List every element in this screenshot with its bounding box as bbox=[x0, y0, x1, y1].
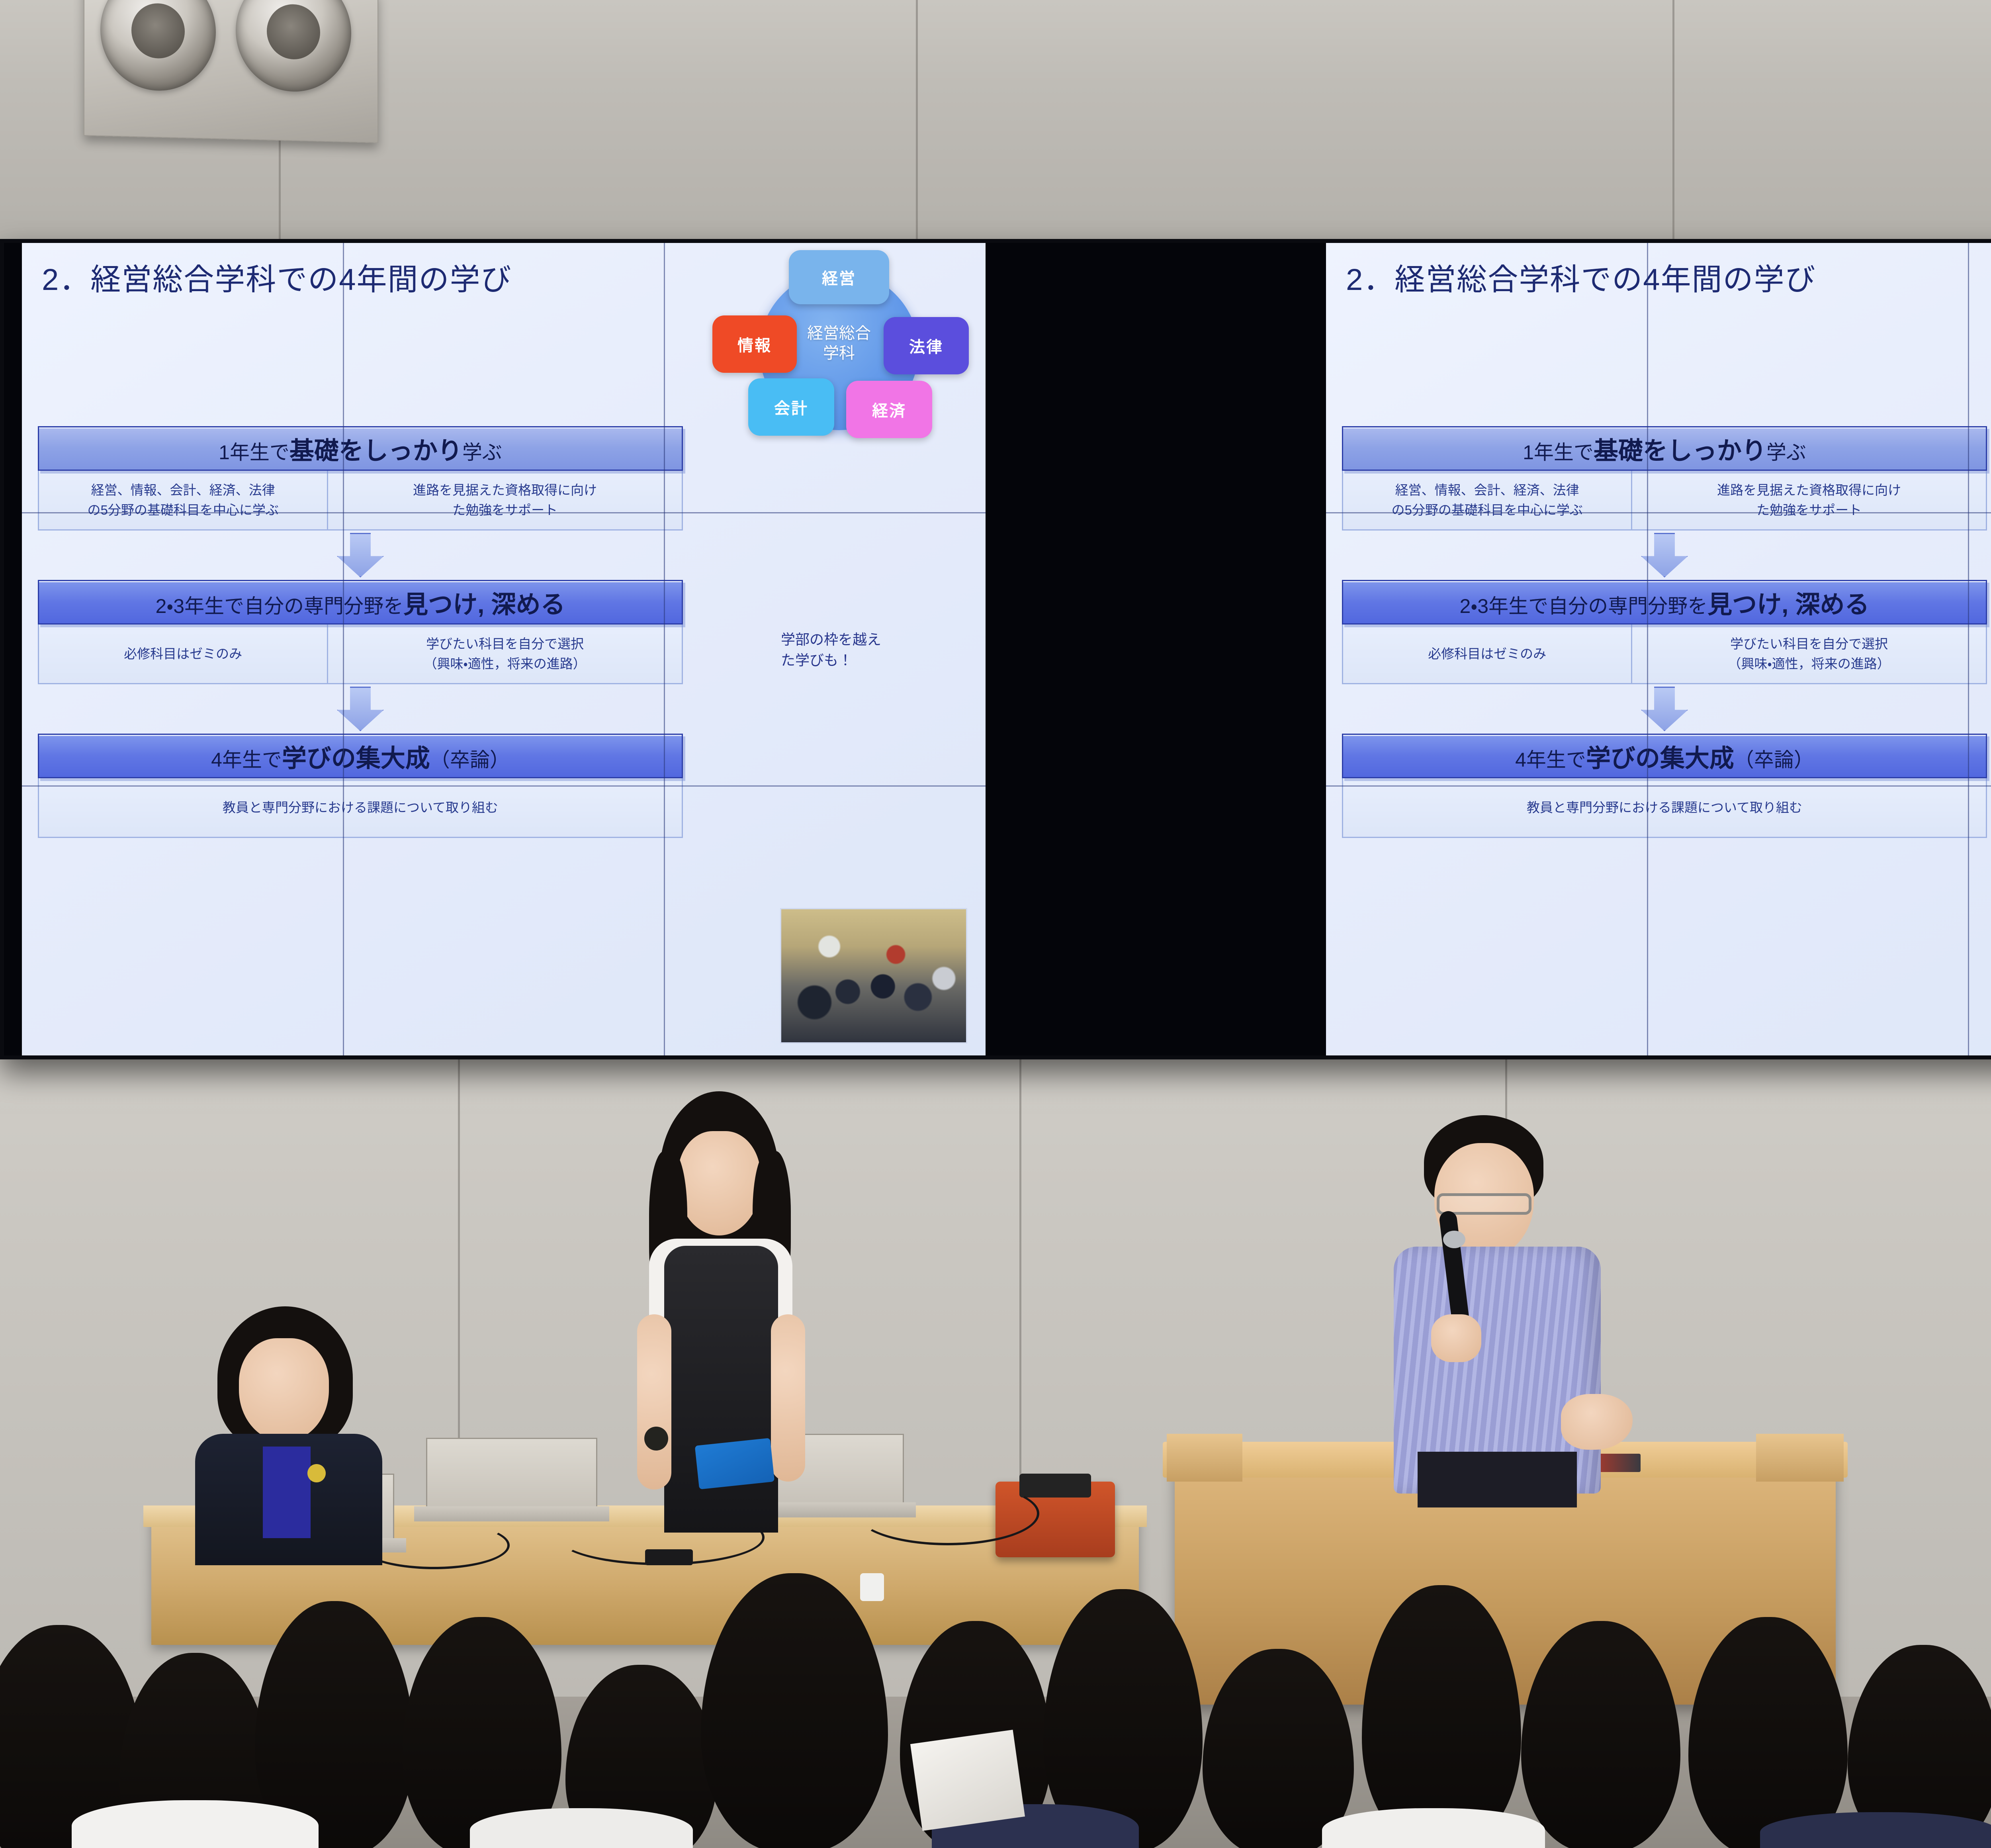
speaker-left-hand bbox=[1431, 1314, 1481, 1362]
presenter-left-arm bbox=[637, 1314, 671, 1490]
speaker-right-hand bbox=[1561, 1394, 1633, 1450]
standing-presenter bbox=[577, 1091, 856, 1537]
speaker-trousers bbox=[1418, 1452, 1577, 1507]
podium-speaker bbox=[1346, 1115, 1657, 1474]
presenter-right-arm bbox=[771, 1314, 805, 1482]
water-bottle bbox=[860, 1573, 884, 1601]
seated-blouse bbox=[263, 1447, 311, 1538]
audience-shoulders bbox=[1322, 1808, 1545, 1848]
air-vent-icon bbox=[236, 0, 351, 93]
podium-left-wing bbox=[1167, 1434, 1242, 1482]
audience-shoulders bbox=[1760, 1812, 1991, 1848]
lecture-hall-screenshot: 2．経営総合学科での4年間の学び 経営総合 学科 経営 情報 法律 会計 経済 bbox=[0, 0, 1991, 1848]
case-handle bbox=[1019, 1474, 1091, 1498]
audience-shoulders bbox=[72, 1800, 319, 1848]
presenter-dress bbox=[664, 1246, 778, 1533]
podium-right-wing bbox=[1756, 1434, 1844, 1482]
presenter-face bbox=[678, 1131, 761, 1235]
microphone-head bbox=[1443, 1231, 1465, 1248]
led-video-wall[interactable]: 2．経営総合学科での4年間の学び 経営総合 学科 経営 情報 法律 会計 経済 bbox=[0, 239, 1991, 1059]
ceiling-diffuser-left bbox=[84, 0, 378, 143]
audience-handout bbox=[910, 1730, 1025, 1831]
videowall-bezel bbox=[0, 239, 1991, 1059]
audience-shoulders bbox=[470, 1808, 693, 1848]
desk-cable bbox=[856, 1482, 1039, 1545]
air-vent-icon bbox=[100, 0, 216, 92]
wristwatch bbox=[644, 1427, 668, 1451]
seated-face bbox=[239, 1338, 329, 1442]
power-adapter bbox=[645, 1549, 693, 1565]
seated-presenter bbox=[179, 1306, 418, 1561]
laptop-center-lid[interactable] bbox=[426, 1438, 597, 1509]
wall-seam bbox=[1672, 0, 1674, 239]
lapel-pin bbox=[307, 1464, 326, 1482]
blue-folder bbox=[695, 1438, 774, 1489]
wall-seam bbox=[916, 0, 918, 239]
